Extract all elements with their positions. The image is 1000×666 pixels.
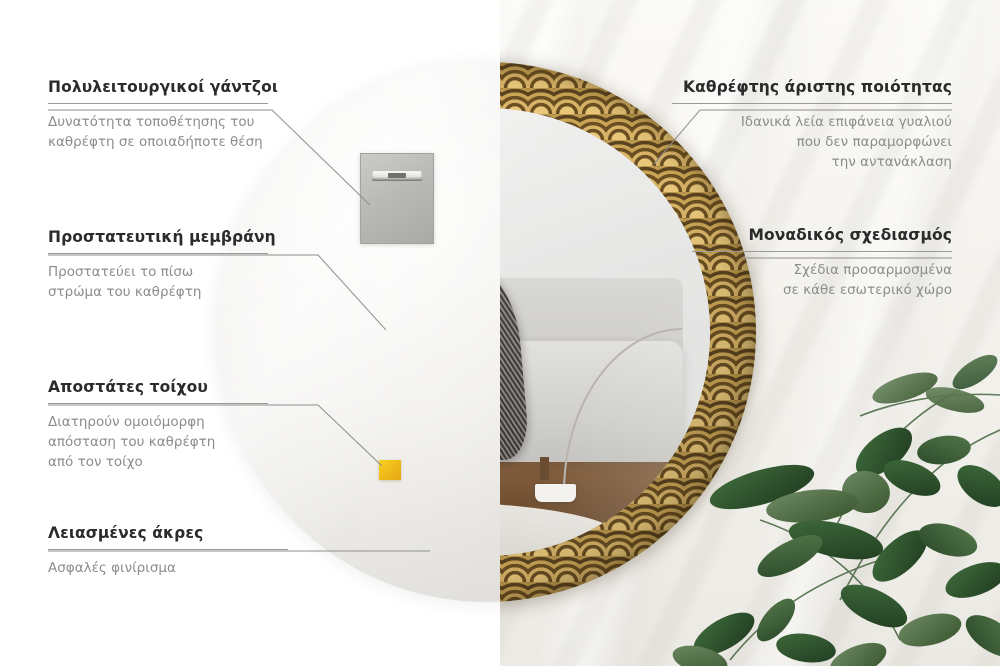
callout-quality: Καθρέφτης άριστης ποιότητας Ιδανικά λεία…: [672, 78, 952, 173]
callout-design-title: Μοναδικός σχεδιασμός: [692, 226, 952, 244]
callout-design-body: Σχέδια προσαρμοσμένα σε κάθε εσωτερικό χ…: [692, 261, 952, 301]
sofa-leg: [540, 457, 549, 479]
mirror-glass: [500, 108, 710, 556]
callout-hooks-body: Δυνατότητα τοποθέτησης του καθρέφτη σε ο…: [48, 113, 268, 153]
callout-spacers-body: Διατηρούν ομοιόμορφη απόσταση του καθρέφ…: [48, 413, 268, 473]
mounting-plate: [360, 153, 434, 244]
callout-spacers-title: Αποστάτες τοίχου: [48, 378, 268, 396]
callout-edges: Λειασμένες άκρες Ασφαλές φινίρισμα: [48, 524, 288, 579]
callout-quality-title: Καθρέφτης άριστης ποιότητας: [672, 78, 952, 96]
callout-membrane-rule: [48, 253, 268, 254]
callout-edges-body: Ασφαλές φινίρισμα: [48, 559, 288, 579]
callout-hooks: Πολυλειτουργικοί γάντζοι Δυνατότητα τοπο…: [48, 78, 268, 153]
hanger-hook-icon: [388, 173, 406, 178]
callout-design-rule: [692, 251, 952, 252]
callout-hooks-rule: [48, 103, 268, 104]
callout-membrane-title: Προστατευτική μεμβράνη: [48, 228, 268, 246]
callout-membrane-body: Προστατεύει το πίσω στρώμα του καθρέφτη: [48, 263, 268, 303]
callout-edges-rule: [48, 549, 288, 550]
callout-quality-rule: [672, 103, 952, 104]
callout-spacers: Αποστάτες τοίχου Διατηρούν ομοιόμορφη απ…: [48, 378, 268, 473]
callout-edges-title: Λειασμένες άκρες: [48, 524, 288, 542]
callout-design: Μοναδικός σχεδιασμός Σχέδια προσαρμοσμέν…: [692, 226, 952, 301]
callout-spacers-rule: [48, 403, 268, 404]
arc-lamp-shade: [535, 484, 575, 502]
callout-hooks-title: Πολυλειτουργικοί γάντζοι: [48, 78, 268, 96]
wall-spacer-chip: [379, 460, 401, 480]
callout-membrane: Προστατευτική μεμβράνη Προστατεύει το πί…: [48, 228, 268, 303]
callout-quality-body: Ιδανικά λεία επιφάνεια γυαλιού που δεν π…: [672, 113, 952, 173]
infographic-canvas: Πολυλειτουργικοί γάντζοι Δυνατότητα τοπο…: [0, 0, 1000, 666]
